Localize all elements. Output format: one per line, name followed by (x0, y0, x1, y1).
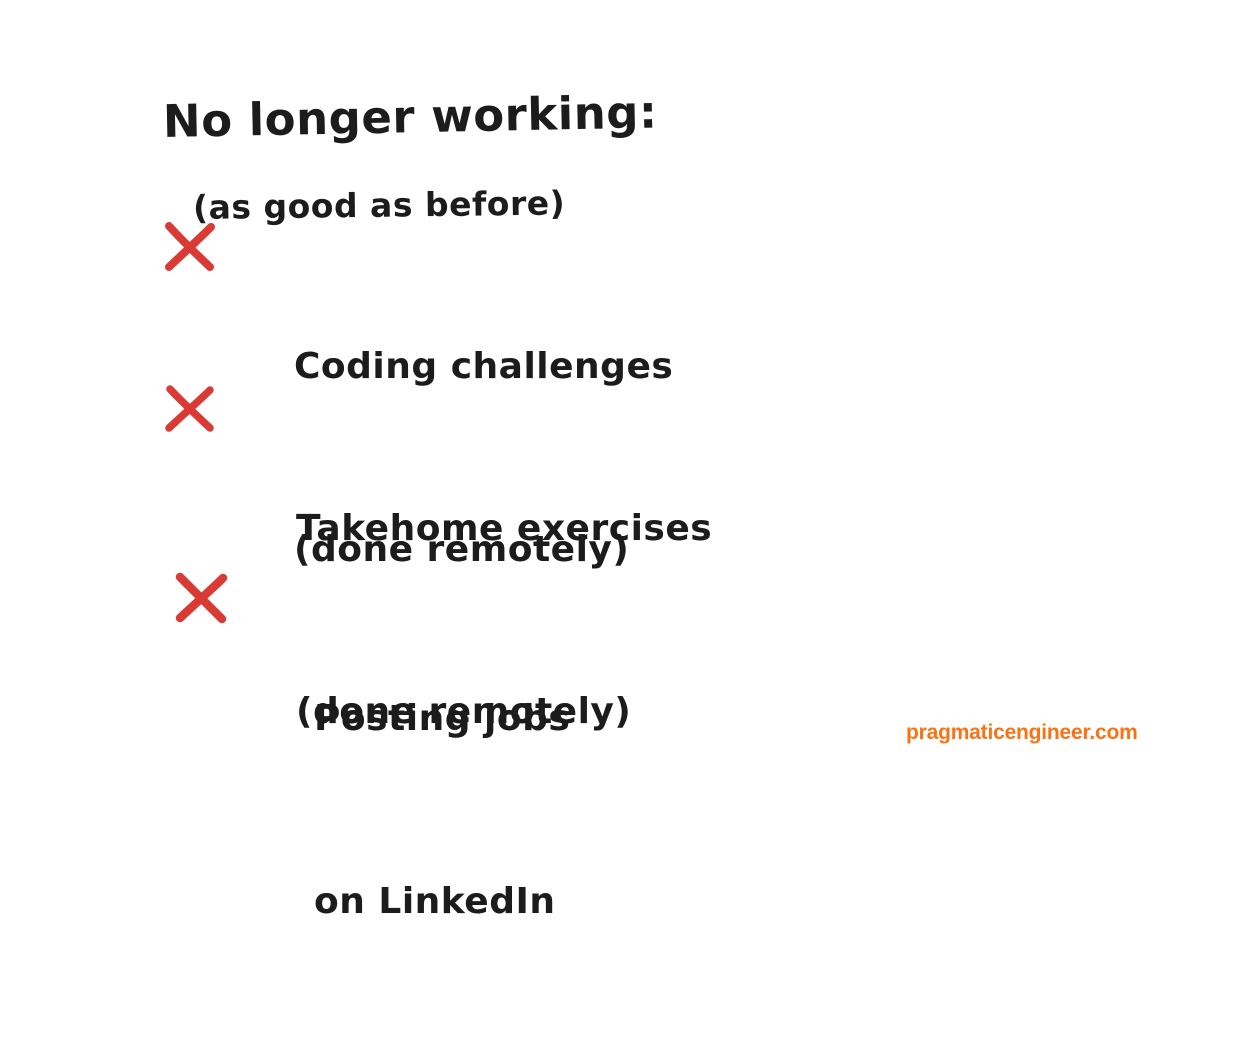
left-column-header-line1: No longer working: (163, 85, 724, 148)
watermark-attribution: pragmaticengineer.com (906, 721, 1138, 745)
list-item-line: Posting jobs (314, 688, 692, 749)
list-item-line: Takehome exercises (296, 498, 762, 559)
cross-icon (162, 220, 218, 274)
list-item: Posting jobs on LinkedIn (172, 566, 692, 1054)
list-item-line: on LinkedIn (314, 871, 692, 932)
cross-icon (162, 382, 218, 436)
cross-icon (172, 570, 230, 626)
column-no-longer-working: No longer working: (as good as before) C… (0, 0, 760, 804)
list-item-text: Posting jobs on LinkedIn (314, 566, 692, 1054)
comparison-board: No longer working: (as good as before) C… (0, 0, 1254, 804)
column-still-working: Still working: In-person interviews T (760, 0, 1254, 804)
